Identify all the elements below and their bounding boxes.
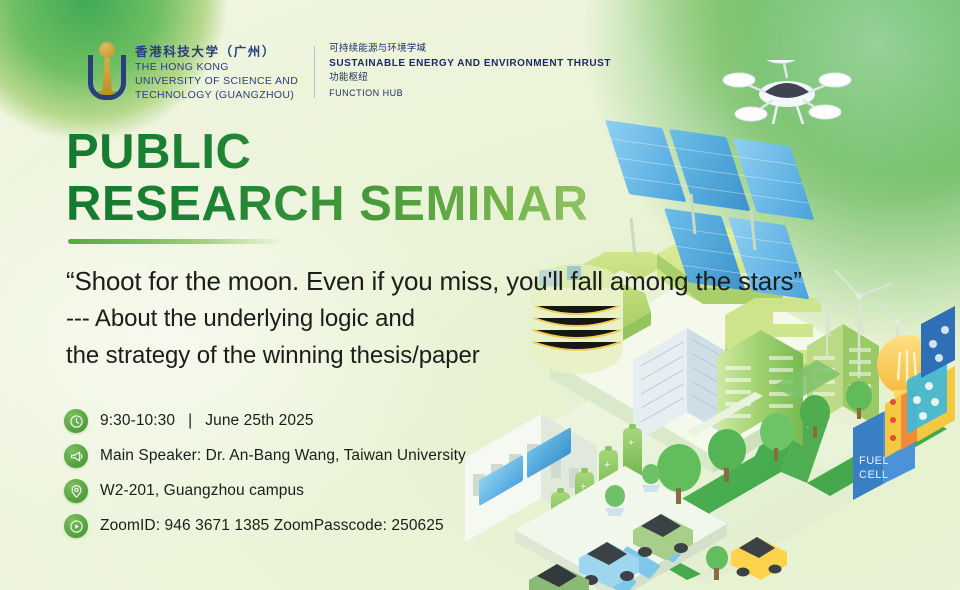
seminar-quote: “Shoot for the moon. Even if you miss, y… (66, 264, 946, 373)
detail-row-speaker: Main Speaker: Dr. An-Bang Wang, Taiwan U… (64, 439, 466, 473)
location-pin-icon (64, 479, 88, 503)
svg-text:+: + (604, 459, 610, 471)
detail-zoom-text: ZoomID: 946 3671 1385 ZoomPasscode: 2506… (100, 517, 444, 535)
page-title: PUBLIC RESEARCH SEMINAR (66, 126, 589, 231)
fuel-cell-label-1: FUEL (859, 455, 889, 467)
quote-main: “Shoot for the moon. Even if you miss, y… (66, 264, 946, 299)
detail-row-time: 9:30-10:30|June 25th 2025 (64, 404, 466, 438)
event-time: 9:30-10:30 (100, 412, 175, 429)
thrust-name-cn: 可持续能源与环境学域 (329, 42, 611, 56)
thrust-name-block: 可持续能源与环境学域 SUSTAINABLE ENERGY AND ENVIRO… (329, 42, 611, 100)
fuel-cell-label-2: CELL (859, 469, 889, 481)
clock-icon (64, 409, 88, 433)
university-name-en-1: THE HONG KONG (135, 61, 298, 75)
quote-sub-2: the strategy of the winning thesis/paper (66, 339, 946, 373)
play-circle-icon (64, 514, 88, 538)
detail-row-venue: W2-201, Guangzhou campus (64, 474, 466, 508)
hkust-crest-icon (88, 42, 126, 100)
brand-header: 香港科技大学（广州） THE HONG KONG UNIVERSITY OF S… (88, 42, 611, 102)
drone (723, 60, 851, 124)
thrust-name-en: SUSTAINABLE ENERGY AND ENVIRONMENT THRUS… (329, 56, 611, 71)
seminar-poster: ++ ++ (0, 0, 960, 590)
detail-speaker-text: Main Speaker: Dr. An-Bang Wang, Taiwan U… (100, 447, 466, 465)
detail-row-zoom: ZoomID: 946 3671 1385 ZoomPasscode: 2506… (64, 509, 466, 543)
title-line-1: PUBLIC (66, 126, 589, 178)
megaphone-icon (64, 444, 88, 468)
header-divider (314, 46, 315, 98)
university-name-cn: 香港科技大学（广州） (135, 44, 298, 61)
detail-venue-text: W2-201, Guangzhou campus (100, 482, 304, 500)
time-date-separator: | (175, 412, 205, 429)
quote-sub-1: --- About the underlying logic and (66, 302, 946, 336)
event-details: 9:30-10:30|June 25th 2025 Main Speaker: … (64, 404, 466, 544)
title-underline (68, 239, 283, 244)
university-name-en-3: TECHNOLOGY (GUANGZHOU) (135, 89, 298, 103)
university-name-en-2: UNIVERSITY OF SCIENCE AND (135, 75, 298, 89)
svg-text:+: + (628, 437, 634, 449)
university-name-block: 香港科技大学（广州） THE HONG KONG UNIVERSITY OF S… (135, 42, 298, 102)
event-date: June 25th 2025 (205, 412, 313, 429)
hub-name-en: FUNCTION HUB (329, 86, 611, 100)
title-line-2: RESEARCH SEMINAR (66, 178, 589, 230)
hub-name-cn: 功能枢纽 (329, 71, 611, 85)
detail-time-text: 9:30-10:30|June 25th 2025 (100, 412, 314, 430)
